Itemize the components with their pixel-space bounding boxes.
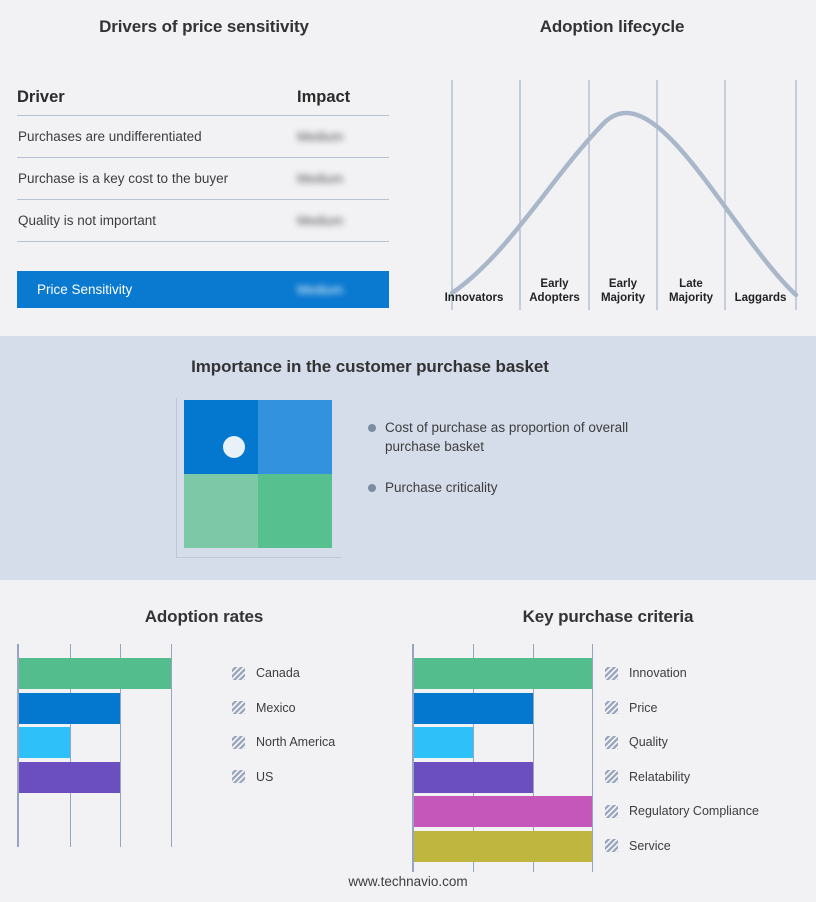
legend-label: US	[256, 770, 273, 784]
drivers-panel: Drivers of price sensitivity Driver Impa…	[0, 0, 408, 336]
quadrant-grid	[184, 400, 332, 548]
driver-label: Purchase is a key cost to the buyer	[17, 171, 297, 186]
stage-label-line1: Innovators	[445, 292, 504, 304]
legend-label: Quality	[629, 735, 668, 749]
quadrant-bottom-right	[258, 474, 332, 548]
page-title-key-purchase-criteria: Key purchase criteria	[400, 607, 816, 627]
bar-quality	[414, 727, 473, 758]
quadrant-data-marker	[223, 436, 245, 458]
legend-label: Cost of purchase as proportion of overal…	[385, 418, 645, 456]
legend-item: Quality	[605, 735, 668, 749]
key-purchase-criteria-panel: Key purchase criteria InnovationPriceQua…	[400, 580, 816, 902]
legend-label: Relatability	[629, 770, 690, 784]
hatched-square-icon	[605, 770, 618, 783]
page-title-lifecycle: Adoption lifecycle	[408, 17, 816, 37]
legend-item: Price	[605, 701, 657, 715]
hatched-square-icon	[232, 736, 245, 749]
lifecycle-stage-labels: Innovators Early Adopters Early Majority…	[428, 272, 803, 312]
driver-label: Purchases are undifferentiated	[17, 129, 297, 144]
page-title-adoption-rates: Adoption rates	[0, 607, 408, 627]
legend-item: North America	[232, 735, 335, 749]
legend-label: Service	[629, 839, 671, 853]
impact-value: Medium	[297, 171, 389, 186]
hatched-square-icon	[605, 736, 618, 749]
quadrant-top-left	[184, 400, 258, 474]
stage-label-line2: Adopters	[520, 291, 589, 305]
legend-item: Service	[605, 839, 671, 853]
drivers-table: Driver Impact Purchases are undifferenti…	[17, 88, 389, 242]
lifecycle-stage-late-majority: Late Majority	[657, 277, 725, 305]
quadrant-chart-frame	[176, 398, 341, 558]
legend-label: Purchase criticality	[385, 478, 498, 497]
legend-item: Canada	[232, 666, 300, 680]
bar-us	[19, 762, 120, 793]
lifecycle-stage-innovators: Innovators	[428, 291, 520, 305]
hatched-square-icon	[605, 839, 618, 852]
table-row: Quality is not important Medium	[17, 200, 389, 242]
key-purchase-criteria-legend: InnovationPriceQualityRelatabilityRegula…	[605, 644, 810, 872]
impact-value-highlighted: Medium	[297, 282, 389, 297]
bar-relatability	[414, 762, 533, 793]
stage-label-line1: Early	[589, 277, 657, 291]
legend-item: Innovation	[605, 666, 687, 680]
hatched-square-icon	[232, 770, 245, 783]
stage-label-line2: Majority	[589, 291, 657, 305]
hatched-square-icon	[232, 701, 245, 714]
bar-regulatory-compliance	[414, 796, 592, 827]
bar-innovation	[414, 658, 592, 689]
lifecycle-stage-early-majority: Early Majority	[589, 277, 657, 305]
driver-label-highlighted: Price Sensitivity	[17, 282, 297, 297]
lifecycle-stage-early-adopters: Early Adopters	[520, 277, 589, 305]
table-row: Purchase is a key cost to the buyer Medi…	[17, 158, 389, 200]
legend-item: Regulatory Compliance	[605, 804, 759, 818]
hatched-square-icon	[605, 667, 618, 680]
legend-label: Mexico	[256, 701, 296, 715]
page-title-basket: Importance in the customer purchase bask…	[0, 357, 740, 377]
lifecycle-panel: Adoption lifecycle Innovators Early	[408, 0, 816, 336]
hatched-square-icon	[605, 701, 618, 714]
chart-gridline	[592, 644, 593, 872]
stage-label-line2: Majority	[657, 291, 725, 305]
hatched-square-icon	[605, 805, 618, 818]
bar-price	[414, 693, 533, 724]
basket-legend: Cost of purchase as proportion of overal…	[368, 418, 698, 519]
quadrant-top-right	[258, 400, 332, 474]
page-title-drivers: Drivers of price sensitivity	[0, 17, 408, 37]
legend-item: Cost of purchase as proportion of overal…	[368, 418, 698, 456]
legend-label: Regulatory Compliance	[629, 804, 759, 818]
table-row: Purchases are undifferentiated Medium	[17, 116, 389, 158]
hatched-square-icon	[232, 667, 245, 680]
basket-panel: Importance in the customer purchase bask…	[0, 336, 816, 580]
key-purchase-criteria-plot-area	[412, 644, 592, 872]
bullet-dot-icon	[368, 424, 376, 432]
legend-item: Purchase criticality	[368, 478, 698, 497]
stage-label-line1: Early	[520, 277, 589, 291]
table-header-row: Driver Impact	[17, 88, 389, 116]
legend-label: Price	[629, 701, 657, 715]
bullet-dot-icon	[368, 484, 376, 492]
chart-gridline	[171, 644, 172, 847]
legend-item: US	[232, 770, 273, 784]
legend-label: North America	[256, 735, 335, 749]
bar-canada	[19, 658, 171, 689]
bar-north-america	[19, 727, 70, 758]
infographic-page: Drivers of price sensitivity Driver Impa…	[0, 0, 816, 902]
driver-label: Quality is not important	[17, 213, 297, 228]
bar-mexico	[19, 693, 120, 724]
bar-service	[414, 831, 592, 862]
legend-item: Relatability	[605, 770, 690, 784]
stage-label-line1: Laggards	[735, 292, 787, 304]
column-header-driver: Driver	[17, 88, 297, 107]
adoption-rates-panel: Adoption rates CanadaMexicoNorth America…	[0, 580, 408, 902]
legend-item: Mexico	[232, 701, 296, 715]
legend-label: Canada	[256, 666, 300, 680]
adoption-rates-legend: CanadaMexicoNorth AmericaUS	[232, 644, 402, 847]
adoption-rates-plot-area	[17, 644, 221, 847]
lifecycle-curve	[452, 113, 796, 295]
legend-label: Innovation	[629, 666, 687, 680]
impact-value: Medium	[297, 213, 389, 228]
lifecycle-stage-laggards: Laggards	[725, 291, 796, 305]
footer-url: www.technavio.com	[0, 874, 816, 889]
impact-value: Medium	[297, 129, 389, 144]
column-header-impact: Impact	[297, 88, 389, 107]
table-row-highlighted: Price Sensitivity Medium	[17, 271, 389, 308]
quadrant-bottom-left	[184, 474, 258, 548]
stage-label-line1: Late	[657, 277, 725, 291]
